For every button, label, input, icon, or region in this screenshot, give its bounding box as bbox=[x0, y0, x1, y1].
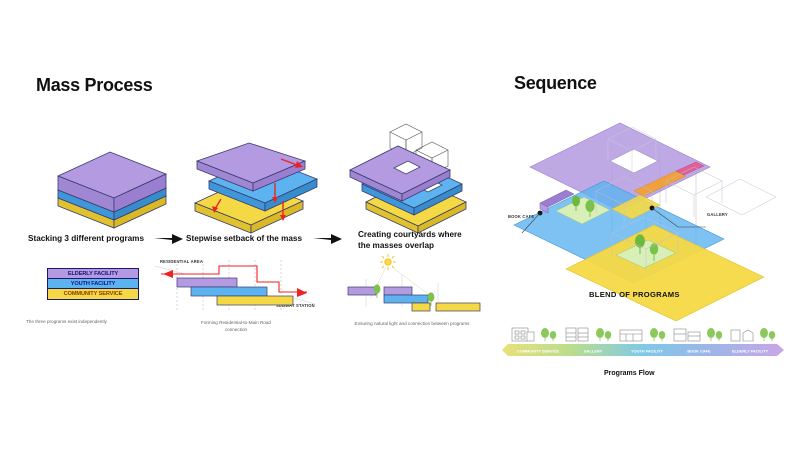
flow-segment-label-elderly-facility: ELDERLY FACILITY bbox=[732, 349, 769, 354]
legend-item-elderly: ELDERLY FACILITY bbox=[48, 269, 138, 279]
step-label-1: Stacking 3 different programs bbox=[28, 233, 144, 244]
flow-arrow-1 bbox=[154, 232, 184, 246]
program-legend: ELDERLY FACILITY YOUTH FACILITY COMMUNIT… bbox=[47, 268, 139, 300]
step-label-2: Stepwise setback of the mass bbox=[186, 233, 302, 244]
legend-item-community: COMMUNITY SERVICE bbox=[48, 289, 138, 299]
flow-segment-label-youth-facility: YOUTH FACILITY bbox=[631, 349, 663, 354]
diagram-exploded-axonometric bbox=[500, 105, 790, 290]
caption-step-2-line2: connection bbox=[176, 327, 296, 334]
flow-segment-label-community-service: COMMUNITY SERVICE bbox=[517, 349, 559, 354]
diagram-stack-step1 bbox=[40, 150, 190, 230]
blend-of-programs-title: BLEND OF PROGRAMS bbox=[589, 290, 680, 299]
flow-arrow-2 bbox=[313, 232, 343, 246]
flow-segment-label-gallery: GALLERY bbox=[584, 349, 603, 354]
axon-label-book-cafe: BOOK CAFE bbox=[508, 214, 534, 219]
step-label-3-line2: the masses overlap bbox=[358, 240, 434, 251]
diagram-stack-step3 bbox=[348, 118, 473, 228]
programs-flow-caption: Programs Flow bbox=[604, 370, 655, 377]
caption-step-1: The three programs exist independently bbox=[26, 319, 166, 326]
diagram-courtyard-section bbox=[340, 253, 500, 315]
diagram-setback-section bbox=[155, 252, 315, 314]
axon-label-gallery: GALLERY bbox=[707, 212, 728, 217]
legend-item-youth: YOUTH FACILITY bbox=[48, 279, 138, 289]
page-title-sequence: Sequence bbox=[514, 73, 597, 94]
presentation-board: Mass Process Stacking 3 different progra… bbox=[0, 0, 800, 449]
step-label-3-line1: Creating courtyards where bbox=[358, 229, 462, 240]
flow-segment-label-book-cafe: BOOK CAFE bbox=[687, 349, 711, 354]
caption-step-2-line1: Forming Residential-to-Main Road bbox=[176, 320, 296, 327]
page-title-mass-process: Mass Process bbox=[36, 75, 152, 96]
programs-flow-diagram: COMMUNITY SERVICE GALLERY YOUTH FACILITY… bbox=[500, 322, 785, 362]
caption-step-3: Ensuring natural light and connection be… bbox=[332, 321, 492, 328]
program-icon-row bbox=[512, 328, 775, 341]
diagram-stack-step2 bbox=[193, 143, 323, 233]
